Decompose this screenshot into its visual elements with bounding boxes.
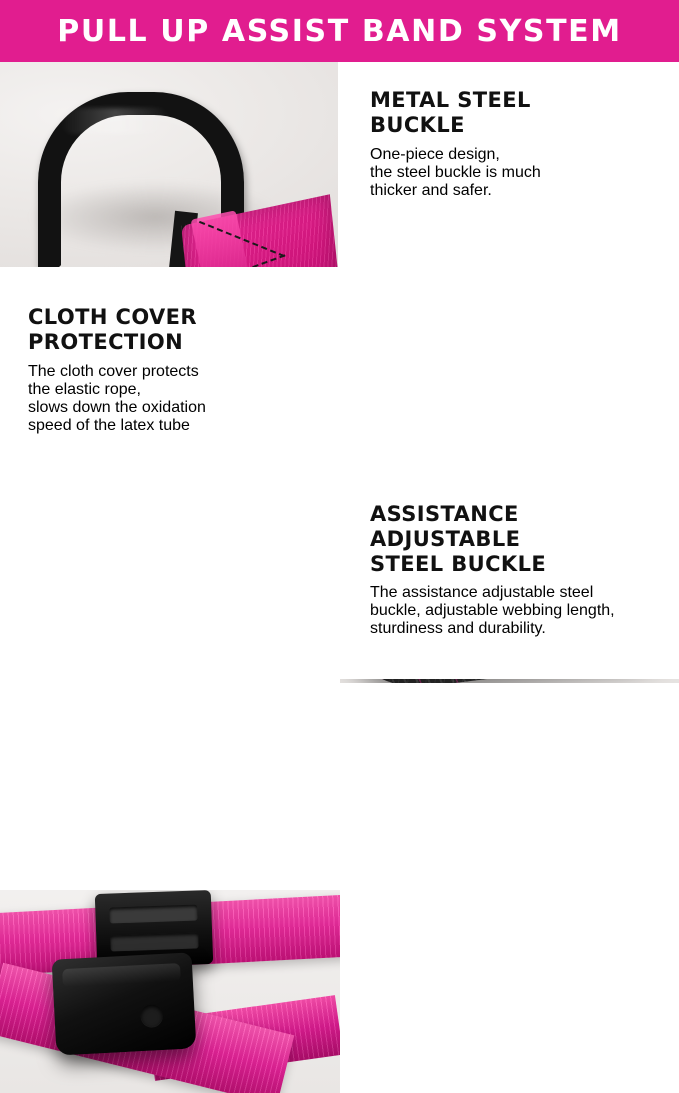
metal-steel-buckle-heading: METAL STEEL BUCKLE bbox=[370, 88, 657, 138]
cloth-cover-heading: CLOTH COVER PROTECTION bbox=[28, 305, 318, 355]
body-line-1: The assistance adjustable steel bbox=[370, 584, 657, 602]
body-line-2: the elastic rope, bbox=[28, 381, 318, 399]
photo-adjustable-buckle bbox=[0, 890, 340, 1093]
buckle-lower-body bbox=[52, 952, 197, 1055]
photo-carabiner bbox=[0, 62, 340, 269]
heading-line-2: PROTECTION bbox=[28, 330, 183, 354]
heading-line-1: METAL STEEL bbox=[370, 88, 531, 112]
body-line-1: The cloth cover protects bbox=[28, 363, 318, 381]
body-line-2: buckle, adjustable webbing length, bbox=[370, 602, 657, 620]
feature-metal-steel-buckle: METAL STEEL BUCKLE One-piece design, the… bbox=[340, 62, 679, 269]
buckle-ridge bbox=[62, 963, 181, 987]
body-line-3: slows down the oxidation bbox=[28, 399, 318, 417]
product-infographic: PULL UP ASSIST BAND SYSTEM METAL STEEL B… bbox=[0, 0, 679, 679]
hook-left-leg bbox=[38, 212, 61, 267]
body-line-3: sturdiness and durability. bbox=[370, 620, 657, 638]
feature-assistance-adjustable-steel-buckle: ASSISTANCE ADJUSTABLE STEEL BUCKLE The a… bbox=[340, 476, 679, 679]
page-title: PULL UP ASSIST BAND SYSTEM bbox=[57, 14, 621, 49]
body-line-2: the steel buckle is much bbox=[370, 164, 657, 182]
heading-line-2: BUCKLE bbox=[370, 113, 465, 137]
feature-grid: METAL STEEL BUCKLE One-piece design, the… bbox=[0, 62, 679, 679]
body-line-4: speed of the latex tube bbox=[28, 417, 318, 435]
buckle-slot-lower bbox=[110, 932, 199, 951]
heading-line-2: ADJUSTABLE bbox=[370, 527, 520, 551]
hook-highlight bbox=[60, 108, 170, 134]
body-line-1: One-piece design, bbox=[370, 146, 657, 164]
heading-line-1: ASSISTANCE bbox=[370, 502, 519, 526]
horizontal-divider-2 bbox=[0, 474, 679, 478]
buckle-hole bbox=[140, 1004, 163, 1027]
horizontal-divider-1 bbox=[0, 267, 679, 271]
heading-line-1: CLOTH COVER bbox=[28, 305, 197, 329]
feature-cloth-cover-protection: CLOTH COVER PROTECTION The cloth cover p… bbox=[0, 269, 340, 476]
header-banner: PULL UP ASSIST BAND SYSTEM bbox=[0, 0, 679, 62]
adjustable-buckle-heading: ASSISTANCE ADJUSTABLE STEEL BUCKLE bbox=[370, 502, 657, 576]
heading-line-3: STEEL BUCKLE bbox=[370, 552, 546, 576]
body-line-3: thicker and safer. bbox=[370, 182, 657, 200]
vertical-divider bbox=[338, 62, 342, 679]
buckle-slot-upper bbox=[109, 904, 198, 923]
